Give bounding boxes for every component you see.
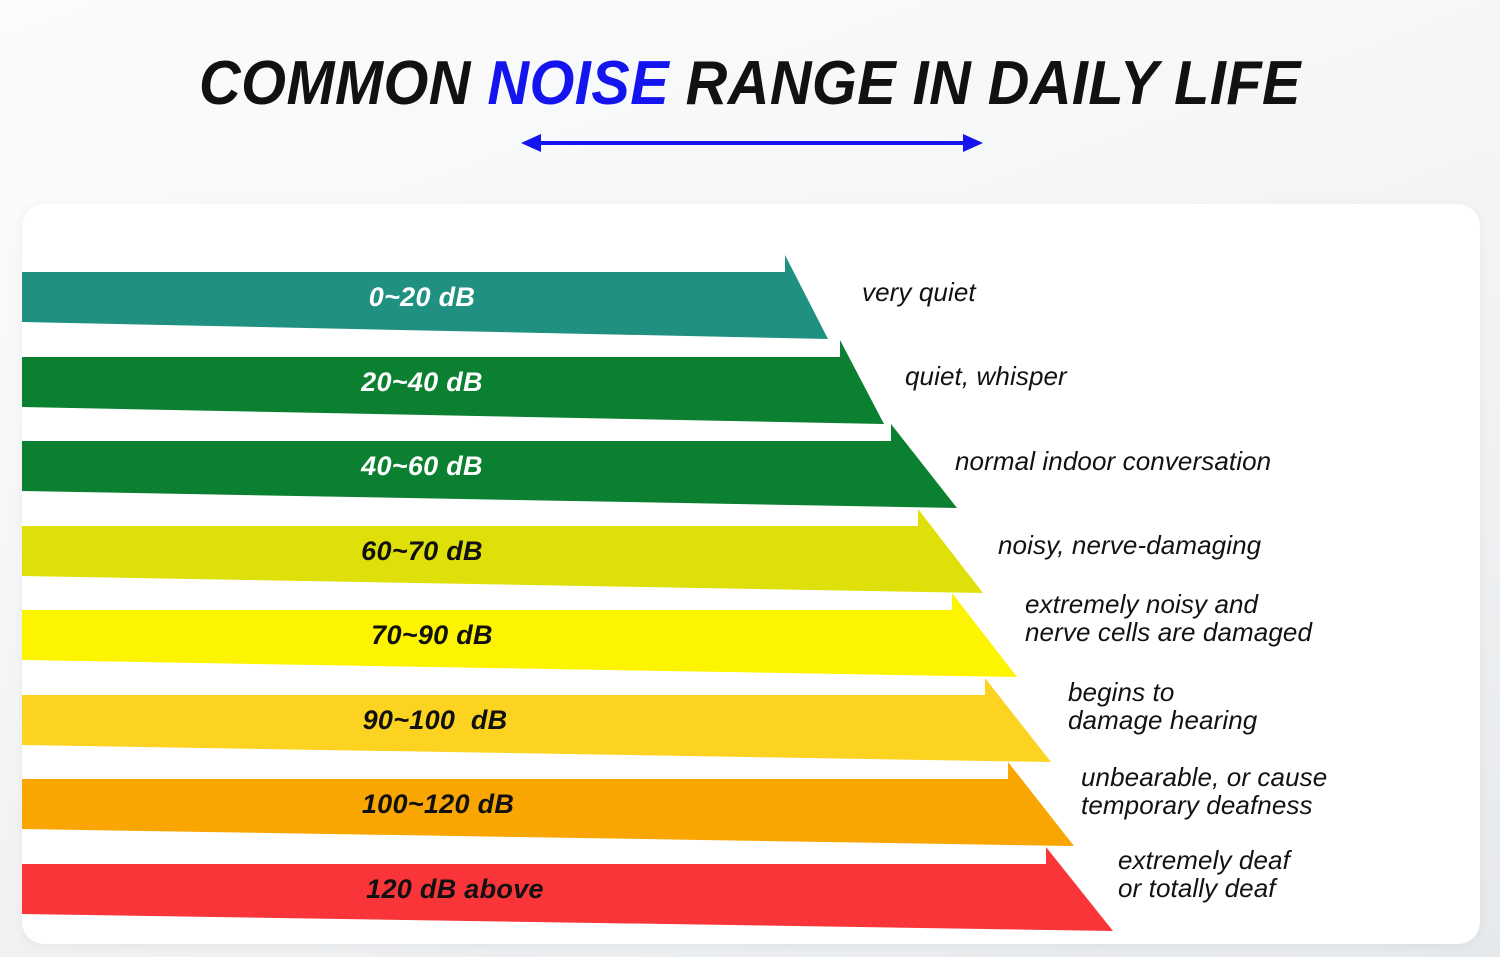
double-headed-arrow-icon — [521, 128, 983, 158]
noise-bar-arrow — [22, 255, 830, 339]
noise-bar-arrow — [22, 847, 1115, 931]
noise-bar-row[interactable]: 0~20 dB — [22, 255, 1480, 339]
noise-bar-arrow — [22, 509, 985, 593]
page-title-highlight: NOISE — [487, 49, 669, 118]
noise-bar-description: quiet, whisper — [905, 362, 1067, 390]
noise-bar-arrow — [22, 593, 1019, 677]
noise-bar-row[interactable]: 90~100 dB — [22, 678, 1480, 762]
noise-bar-description: extremely deaf or totally deaf — [1118, 846, 1290, 902]
noise-bar-description: unbearable, or cause temporary deafness — [1081, 763, 1327, 819]
page-title-after: RANGE IN DAILY LIFE — [669, 49, 1301, 118]
noise-range-card: 0~20 dB20~40 dB40~60 dB60~70 dB70~90 dB9… — [22, 204, 1480, 944]
noise-bar-arrow — [22, 678, 1053, 762]
noise-bar-description: begins to damage hearing — [1068, 678, 1257, 734]
noise-bar-row[interactable]: 20~40 dB — [22, 340, 1480, 424]
title-bar: COMMON NOISE RANGE IN DAILY LIFE — [0, 0, 1500, 200]
noise-bar-row[interactable]: 60~70 dB — [22, 509, 1480, 593]
page-title: COMMON NOISE RANGE IN DAILY LIFE — [53, 48, 1448, 119]
noise-bar-description: extremely noisy and nerve cells are dama… — [1025, 590, 1312, 646]
noise-bar-description: normal indoor conversation — [955, 447, 1271, 475]
noise-bar-arrow — [22, 762, 1076, 846]
noise-bar-description: noisy, nerve-damaging — [998, 531, 1261, 559]
noise-bar-description: very quiet — [862, 278, 976, 306]
noise-bar-arrow — [22, 424, 959, 508]
noise-bar-arrow — [22, 340, 886, 424]
page-title-before: COMMON — [199, 49, 487, 118]
